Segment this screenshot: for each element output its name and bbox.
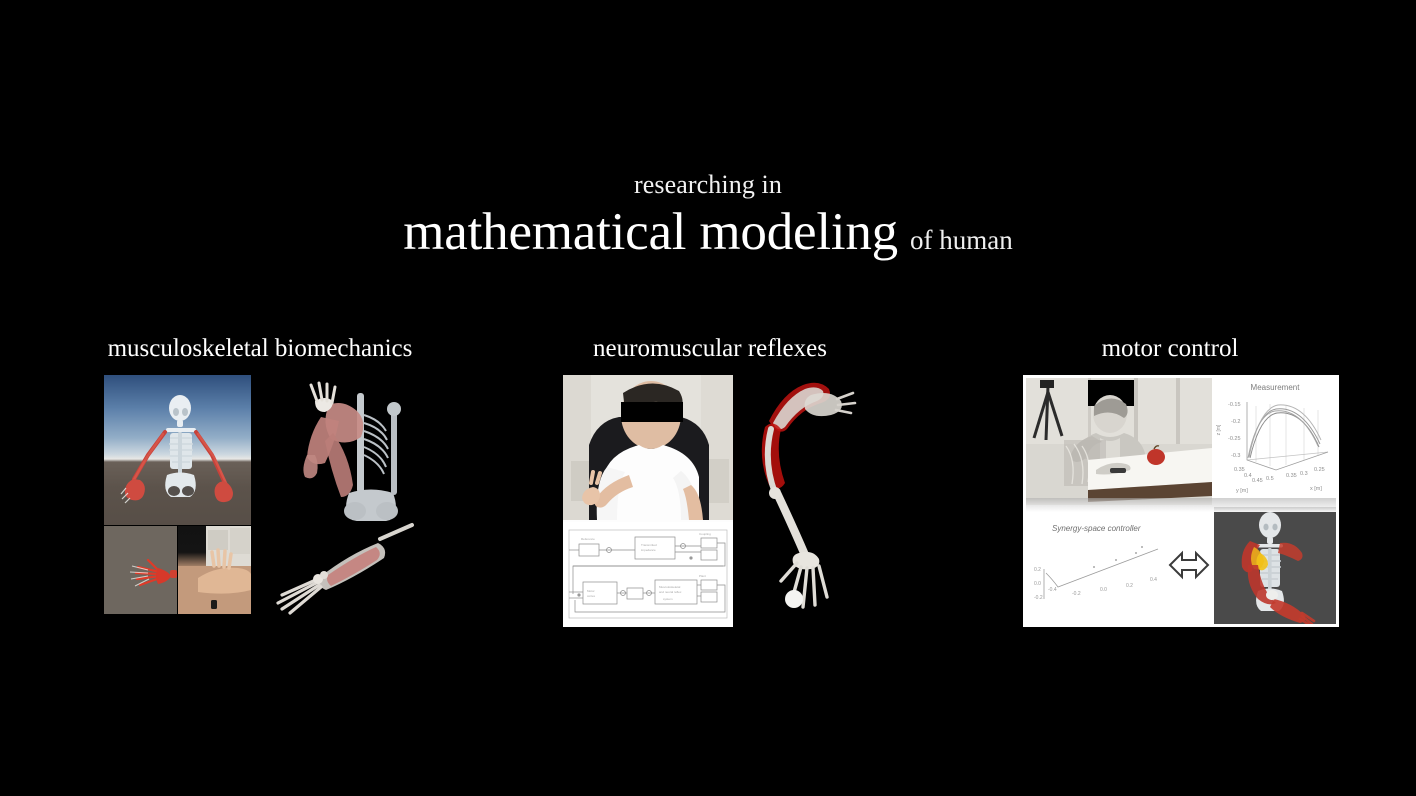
svg-text:-0.2: -0.2 bbox=[1231, 419, 1240, 425]
svg-text:-0.2: -0.2 bbox=[1072, 591, 1081, 597]
svg-text:impedance: impedance bbox=[641, 548, 656, 552]
lab-reaching-photo bbox=[1026, 378, 1212, 505]
slide-root: researching in mathematical modelingof h… bbox=[0, 0, 1416, 796]
title-main-line: mathematical modelingof human bbox=[0, 206, 1416, 259]
title-kicker: researching in bbox=[0, 172, 1416, 198]
figure-group-motor-control: Measurement -0.15 -0.2 -0.25 -0.3 0.35 0… bbox=[1000, 371, 1340, 629]
title-block: researching in mathematical modelingof h… bbox=[0, 172, 1416, 259]
svg-text:Transmitted: Transmitted bbox=[641, 543, 657, 547]
svg-text:z [m]: z [m] bbox=[1216, 424, 1222, 435]
svg-text:Synergy-space controller: Synergy-space controller bbox=[1052, 524, 1141, 533]
svg-text:0.35: 0.35 bbox=[1286, 473, 1297, 479]
title-tail: of human bbox=[910, 225, 1013, 255]
svg-text:Coupling: Coupling bbox=[699, 532, 711, 536]
torso-muscle-model bbox=[263, 375, 423, 525]
measurement-plot: Measurement -0.15 -0.2 -0.25 -0.3 0.35 0… bbox=[1214, 378, 1336, 505]
column-neuromuscular-reflexes: neuromuscular reflexes bbox=[540, 336, 880, 629]
control-block-diagram: Reference Transmitted impedance Coupling… bbox=[563, 522, 733, 627]
figure-group-reflexes: Reference Transmitted impedance Coupling… bbox=[540, 371, 880, 629]
column-musculoskeletal-biomechanics: musculoskeletal biomechanics bbox=[60, 336, 460, 629]
svg-text:-0.25: -0.25 bbox=[1228, 436, 1241, 442]
columns-row: musculoskeletal biomechanics bbox=[0, 336, 1416, 636]
svg-text:0.45: 0.45 bbox=[1252, 478, 1263, 484]
column-heading-reflexes: neuromuscular reflexes bbox=[540, 336, 880, 362]
svg-text:-0.2: -0.2 bbox=[1034, 595, 1043, 601]
motor-control-composite: Measurement -0.15 -0.2 -0.25 -0.3 0.35 0… bbox=[1023, 375, 1339, 627]
svg-text:0.4: 0.4 bbox=[1150, 577, 1157, 583]
skeletal-arm-render bbox=[741, 375, 861, 627]
svg-text:cortex: cortex bbox=[587, 594, 596, 598]
svg-text:0.2: 0.2 bbox=[1126, 583, 1133, 589]
svg-text:y [m]: y [m] bbox=[1236, 488, 1248, 494]
svg-text:-0.3: -0.3 bbox=[1231, 453, 1240, 459]
svg-text:0.2: 0.2 bbox=[1034, 567, 1041, 573]
svg-text:0.25: 0.25 bbox=[1314, 467, 1325, 473]
skeleton-muscle-render bbox=[1214, 507, 1336, 624]
svg-text:and neural reflex: and neural reflex bbox=[659, 590, 682, 594]
svg-text:Motor: Motor bbox=[587, 589, 595, 593]
svg-text:0.0: 0.0 bbox=[1034, 581, 1041, 587]
svg-text:0.4: 0.4 bbox=[1244, 473, 1252, 479]
svg-text:0.5: 0.5 bbox=[1266, 476, 1274, 482]
forearm-muscle-model bbox=[260, 521, 425, 626]
column-heading-biomechanics: musculoskeletal biomechanics bbox=[60, 336, 460, 362]
figure-group-biomechanics bbox=[60, 371, 460, 629]
svg-text:Plant: Plant bbox=[699, 574, 706, 578]
reflex-card: Reference Transmitted impedance Coupling… bbox=[563, 375, 733, 627]
hand-muscle-model bbox=[104, 526, 177, 614]
synergy-space-plot: Synergy-space controller 0.2 0.0 -0.2 -0… bbox=[1026, 507, 1212, 624]
svg-text:system: system bbox=[663, 597, 673, 601]
svg-text:Reference: Reference bbox=[581, 537, 595, 541]
panel-divider-band bbox=[1026, 498, 1339, 512]
svg-text:x [m]: x [m] bbox=[1310, 486, 1322, 492]
title-emphasis: mathematical modeling bbox=[403, 203, 898, 261]
column-motor-control: motor control bbox=[1000, 336, 1340, 629]
svg-text:Musculoskeletal: Musculoskeletal bbox=[659, 585, 681, 589]
unity-skeleton-render bbox=[104, 375, 251, 525]
svg-text:0.3: 0.3 bbox=[1300, 471, 1308, 477]
svg-text:-0.4: -0.4 bbox=[1048, 587, 1057, 593]
column-heading-motor-control: motor control bbox=[1000, 336, 1340, 362]
hand-photo bbox=[178, 526, 251, 614]
svg-text:-0.15: -0.15 bbox=[1228, 402, 1241, 408]
svg-text:0.0: 0.0 bbox=[1100, 587, 1107, 593]
subject-photo bbox=[563, 375, 733, 520]
svg-text:Measurement: Measurement bbox=[1251, 383, 1301, 392]
